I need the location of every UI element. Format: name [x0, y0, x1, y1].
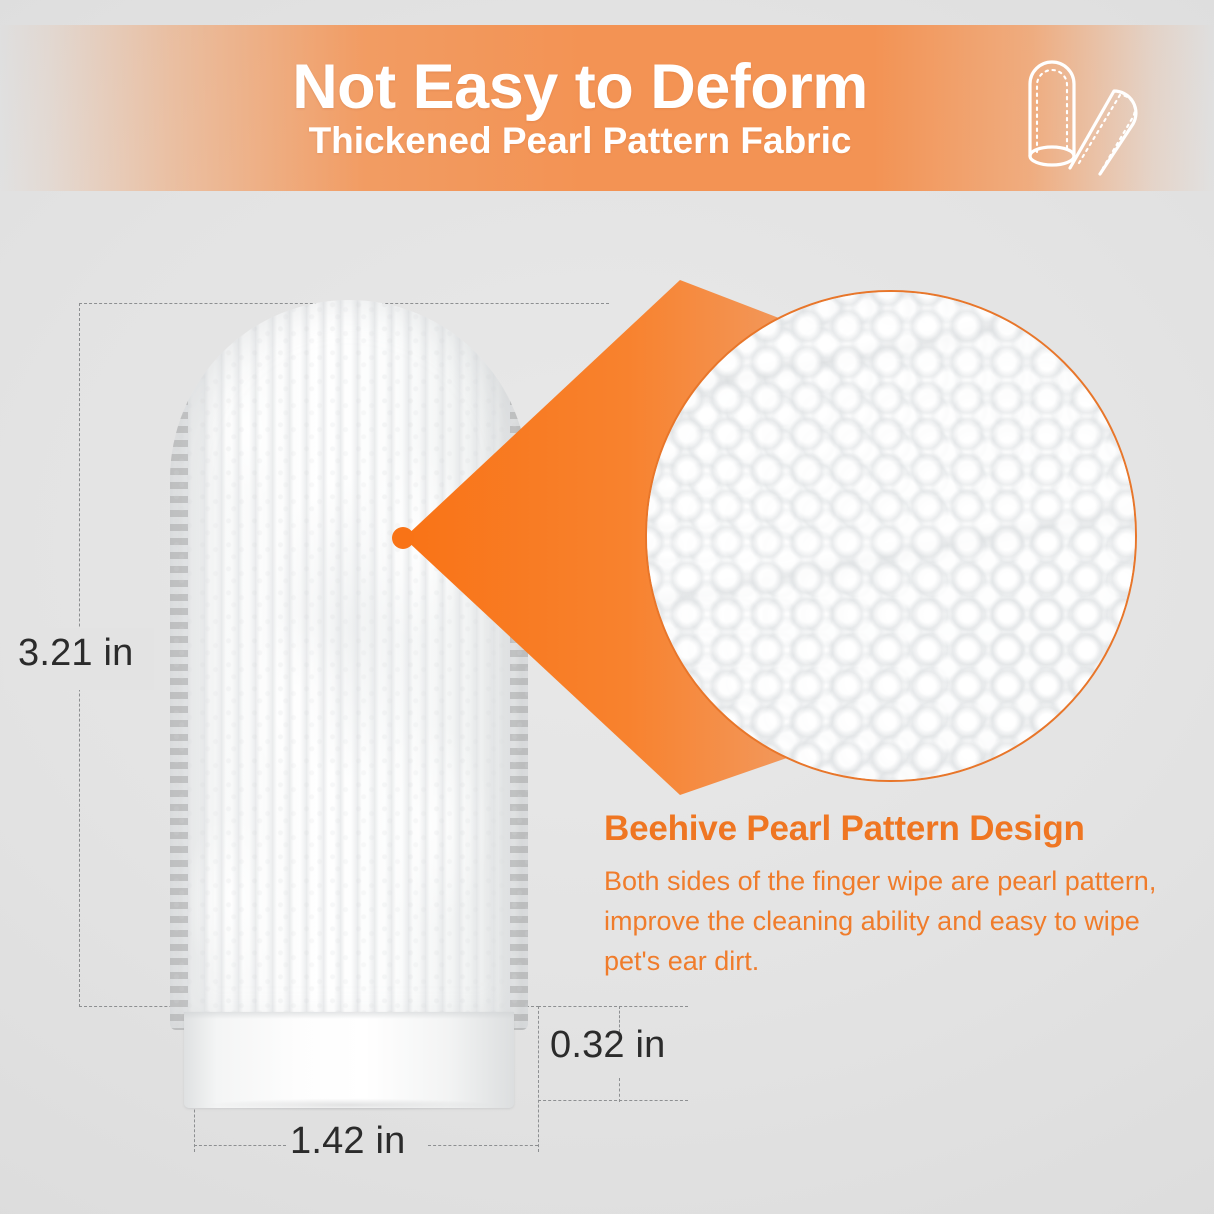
dimension-line-width-left [194, 1145, 286, 1146]
feature-heading: Beehive Pearl Pattern Design [604, 808, 1204, 850]
product-edge-serration-left [170, 300, 188, 1030]
product-drop-shadow [150, 1096, 550, 1114]
magnifier-anchor-dot [392, 527, 414, 549]
dimension-line-thickness-bottom [538, 1100, 688, 1101]
finger-wipe-pair-icon [996, 44, 1146, 176]
page-subtitle: Thickened Pearl Pattern Fabric [309, 121, 852, 162]
dimension-label-thickness: 0.32 in [550, 1024, 666, 1067]
page-title: Not Easy to Deform [292, 55, 868, 119]
dimension-tick-thickness-bottom [619, 1078, 620, 1102]
product-cuff-band [184, 1012, 514, 1108]
dimension-label-height: 3.21 in [18, 632, 134, 675]
dimension-label-width: 1.42 in [290, 1120, 406, 1163]
pearl-pattern-zoom-circle [645, 290, 1137, 782]
dimension-line-thickness-top [538, 1006, 688, 1007]
feature-description: Both sides of the finger wipe are pearl … [604, 862, 1184, 982]
dimension-line-width-right [428, 1145, 538, 1146]
dimension-tick-width-right [538, 1006, 539, 1152]
